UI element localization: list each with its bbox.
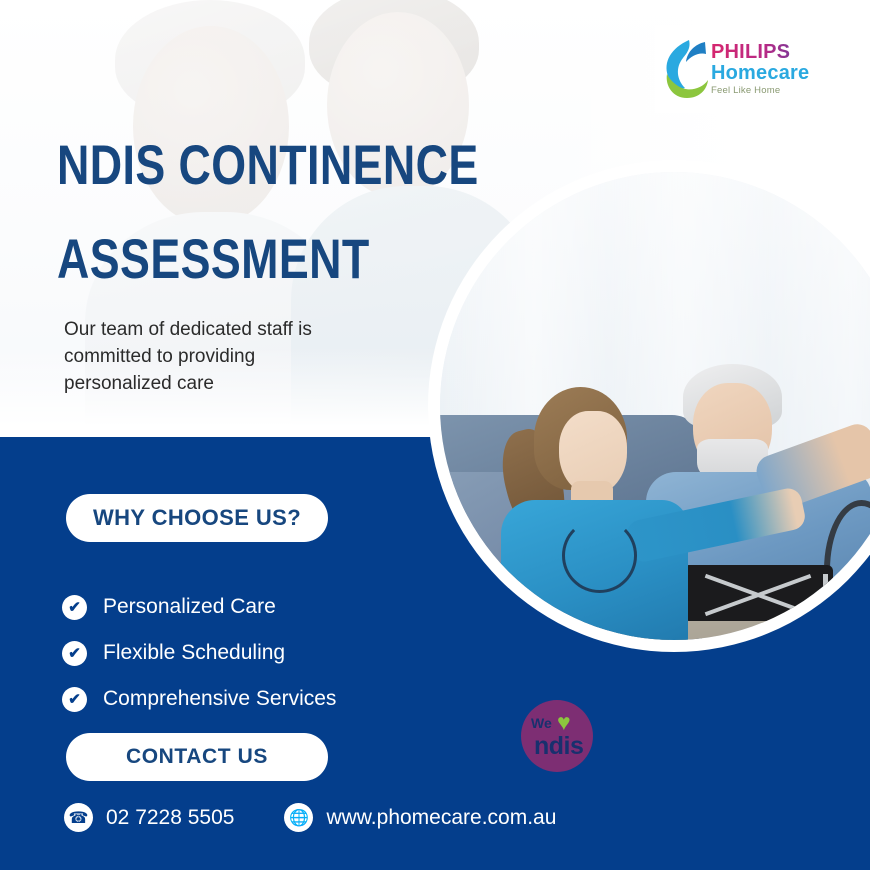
hero-photo [440, 172, 870, 640]
headline-line-1: NDIS CONTINENCE [57, 118, 393, 212]
phone-contact[interactable]: ☎ 02 7228 5505 [64, 803, 234, 832]
globe-icon: 🌐 [284, 803, 313, 832]
logo-tagline: Feel Like Home [711, 86, 809, 96]
heart-icon: ♥ [557, 711, 571, 734]
hero-photo-ring [428, 160, 870, 652]
logo-brand-line-2: Homecare [711, 63, 809, 83]
ndis-we-text: We [531, 715, 552, 731]
headline-line-2: ASSESSMENT [57, 212, 393, 306]
feature-list: ✔ Personalized Care ✔ Flexible Schedulin… [62, 584, 422, 722]
stethoscope-icon [562, 518, 637, 593]
website-contact[interactable]: 🌐 www.phomecare.com.au [284, 803, 556, 832]
list-item-label: Personalized Care [103, 595, 276, 619]
check-circle-icon: ✔ [62, 595, 87, 620]
list-item-label: Comprehensive Services [103, 687, 336, 711]
subheading-text: Our team of dedicated staff is committed… [64, 316, 364, 397]
check-circle-icon: ✔ [62, 687, 87, 712]
contact-footer: ☎ 02 7228 5505 🌐 www.phomecare.com.au [64, 803, 556, 832]
list-item: ✔ Comprehensive Services [62, 676, 422, 722]
logo-brand-line-1: PHILIPS [711, 42, 809, 62]
list-item: ✔ Flexible Scheduling [62, 630, 422, 676]
contact-us-button[interactable]: CONTACT US [66, 733, 328, 781]
website-url: www.phomecare.com.au [326, 806, 556, 830]
heart-logo-icon [659, 36, 709, 102]
check-circle-icon: ✔ [62, 641, 87, 666]
phone-number: 02 7228 5505 [106, 806, 234, 830]
ndis-word-text: ndis [534, 732, 583, 761]
poster-canvas: NDIS CONTINENCE ASSESSMENT Our team of d… [0, 0, 870, 870]
phone-icon: ☎ [64, 803, 93, 832]
photo-wheelchair-frame [669, 574, 828, 640]
why-choose-us-button[interactable]: WHY CHOOSE US? [66, 494, 328, 542]
logo-wordmark: PHILIPS Homecare Feel Like Home [711, 42, 809, 96]
list-item-label: Flexible Scheduling [103, 641, 285, 665]
list-item: ✔ Personalized Care [62, 584, 422, 630]
we-love-ndis-badge: We ♥ ndis [521, 700, 593, 772]
page-title: NDIS CONTINENCE ASSESSMENT [57, 118, 393, 306]
brand-logo[interactable]: PHILIPS Homecare Feel Like Home [655, 25, 821, 113]
